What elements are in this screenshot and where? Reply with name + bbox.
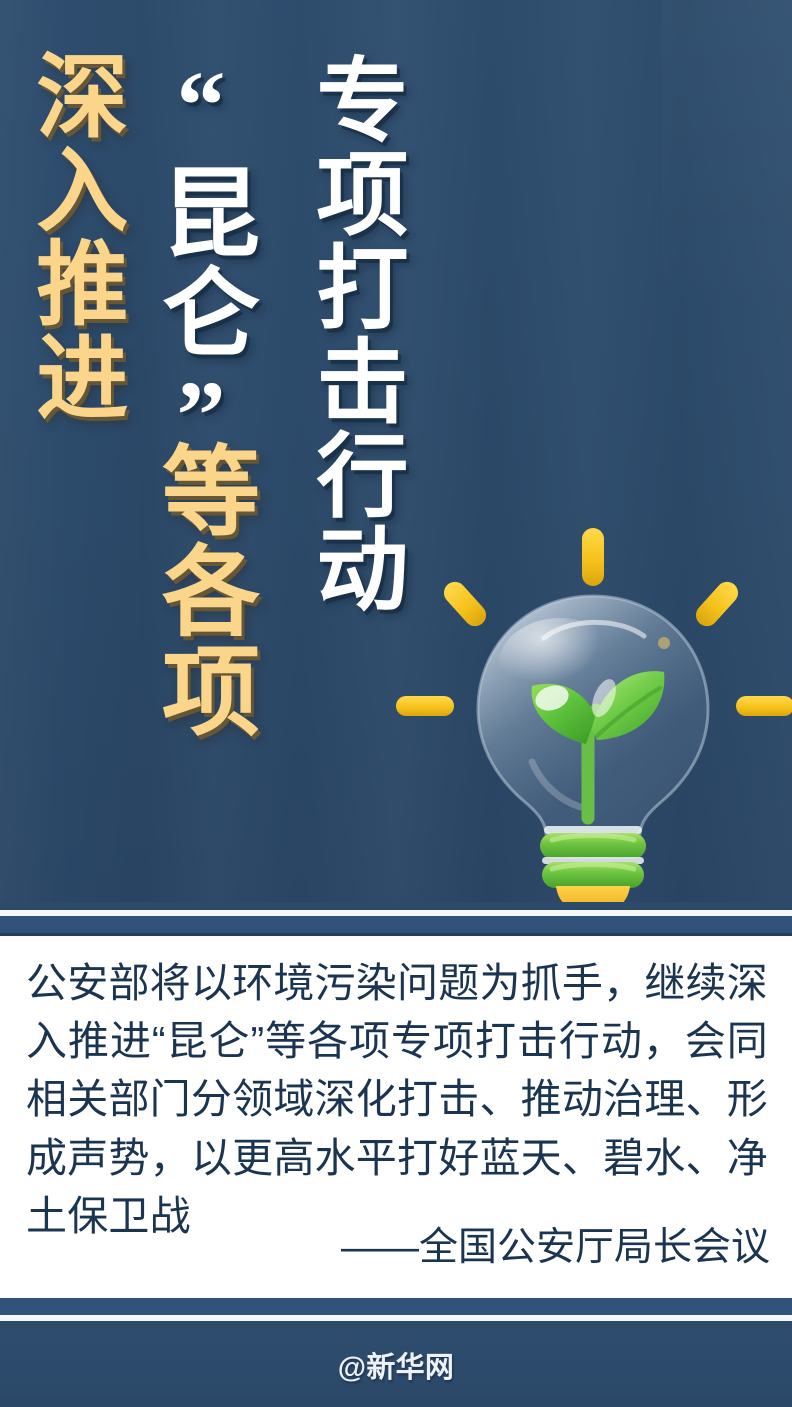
bulb-base <box>540 826 646 910</box>
divider-top-blue-upper <box>0 902 792 910</box>
headline-column-shenrutuijin: 深入推进 <box>26 48 120 423</box>
divider-bottom <box>0 1298 792 1328</box>
footer-bar: @新华网 <box>0 1328 792 1407</box>
poster-root: 专项打击行动 “昆仑” 等各项 深入推进 <box>0 0 792 1407</box>
attribution-line: ——全国公安厅局长会议 <box>341 1225 770 1272</box>
eco-lightbulb-icon <box>392 500 792 910</box>
body-paragraph: 公安部将以环境污染问题为抓手，继续深入推进“昆仑”等各项专项打击行动，会同相关部… <box>26 954 768 1245</box>
divider-top <box>0 902 792 936</box>
divider-top-blue-band <box>0 916 792 933</box>
headline-column-action: 专项打击行动 <box>306 52 400 615</box>
headline-column-dengxiang: 等各项 <box>150 440 250 740</box>
divider-bottom-blue-band <box>0 1298 792 1315</box>
body-card: 公安部将以环境污染问题为抓手，继续深入推进“昆仑”等各项专项打击行动，会同相关部… <box>0 936 792 1298</box>
headline-column-kunlun: “昆仑” <box>150 52 250 472</box>
divider-bottom-blue-lower <box>0 1321 792 1328</box>
source-watermark: @新华网 <box>0 1344 792 1386</box>
hero-section: 专项打击行动 “昆仑” 等各项 深入推进 <box>0 0 792 910</box>
